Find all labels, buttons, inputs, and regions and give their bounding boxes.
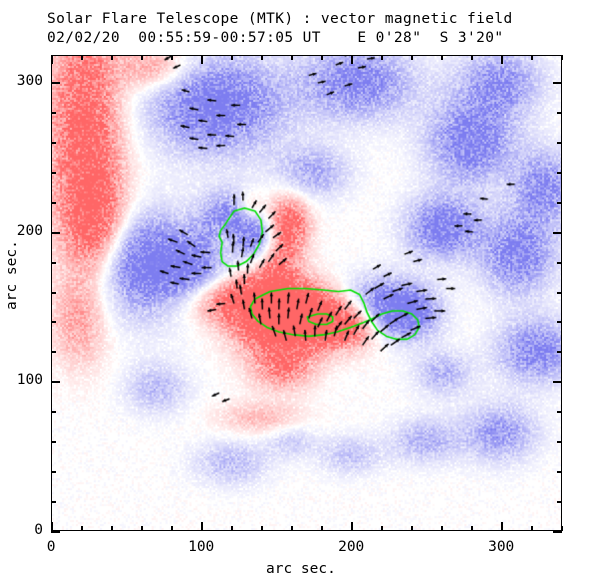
x-minor-tick [111,526,113,531]
x-major-tick-top [51,55,53,64]
x-minor-tick [321,526,323,531]
y-major-tick-right [553,381,562,383]
y-minor-tick-right [557,142,562,144]
y-minor-tick-right [557,172,562,174]
x-minor-tick-top [81,55,83,60]
figure-subtitle: 02/02/20 00:55:59-00:57:05 UT E 0'28" S … [47,29,513,48]
x-minor-tick-top [111,55,113,60]
y-major-tick [51,82,60,84]
y-minor-tick [51,292,56,294]
x-major-tick [501,522,503,531]
x-minor-tick-top [381,55,383,60]
x-tick-label: 300 [488,539,514,555]
x-minor-tick [231,526,233,531]
x-minor-tick [381,526,383,531]
x-minor-tick-top [231,55,233,60]
x-major-tick [201,522,203,531]
x-axis-title: arc sec. [266,561,336,577]
x-tick-label: 100 [188,539,214,555]
x-tick-label: 200 [338,539,364,555]
y-minor-tick-right [557,351,562,353]
x-minor-tick-top [321,55,323,60]
y-tick-label: 300 [0,73,43,89]
x-minor-tick [261,526,263,531]
y-major-tick-right [553,531,562,533]
y-minor-tick [51,142,56,144]
x-minor-tick [441,526,443,531]
y-minor-tick [51,112,56,114]
y-axis-title: arc sec. [4,250,20,310]
y-minor-tick [51,202,56,204]
y-minor-tick-right [557,321,562,323]
y-minor-tick-right [557,292,562,294]
x-minor-tick [81,526,83,531]
x-minor-tick-top [531,55,533,60]
y-minor-tick-right [557,441,562,443]
x-minor-tick-top [291,55,293,60]
x-major-tick-top [501,55,503,64]
y-minor-tick [51,411,56,413]
y-minor-tick-right [557,411,562,413]
x-minor-tick [531,526,533,531]
y-minor-tick-right [557,262,562,264]
y-minor-tick [51,471,56,473]
figure-canvas: Solar Flare Telescope (MTK) : vector mag… [0,0,612,585]
y-minor-tick [51,172,56,174]
y-major-tick [51,232,60,234]
figure-title-block: Solar Flare Telescope (MTK) : vector mag… [47,10,513,48]
y-minor-tick [51,501,56,503]
y-tick-label: 100 [0,372,43,388]
y-minor-tick [51,321,56,323]
x-major-tick-top [201,55,203,64]
x-minor-tick [411,526,413,531]
x-minor-tick-top [561,55,563,60]
y-minor-tick-right [557,501,562,503]
y-major-tick [51,531,60,533]
y-minor-tick [51,441,56,443]
x-minor-tick [141,526,143,531]
y-major-tick-right [553,82,562,84]
page-title: Solar Flare Telescope (MTK) : vector mag… [47,10,513,29]
y-minor-tick-right [557,202,562,204]
x-minor-tick-top [411,55,413,60]
x-tick-label: 0 [47,539,56,555]
x-minor-tick [471,526,473,531]
x-major-tick [51,522,53,531]
y-minor-tick-right [557,471,562,473]
x-major-tick [351,522,353,531]
x-minor-tick [171,526,173,531]
magnetogram-plot [51,55,562,531]
x-minor-tick [291,526,293,531]
y-tick-label: 200 [0,223,43,239]
x-minor-tick-top [141,55,143,60]
x-minor-tick-top [171,55,173,60]
y-minor-tick-right [557,112,562,114]
x-major-tick-top [351,55,353,64]
y-minor-tick [51,262,56,264]
vector-contour-overlay [52,56,561,530]
x-minor-tick-top [441,55,443,60]
x-minor-tick-top [261,55,263,60]
y-major-tick-right [553,232,562,234]
x-minor-tick-top [471,55,473,60]
y-minor-tick [51,351,56,353]
y-major-tick [51,381,60,383]
y-tick-label: 0 [0,522,43,538]
